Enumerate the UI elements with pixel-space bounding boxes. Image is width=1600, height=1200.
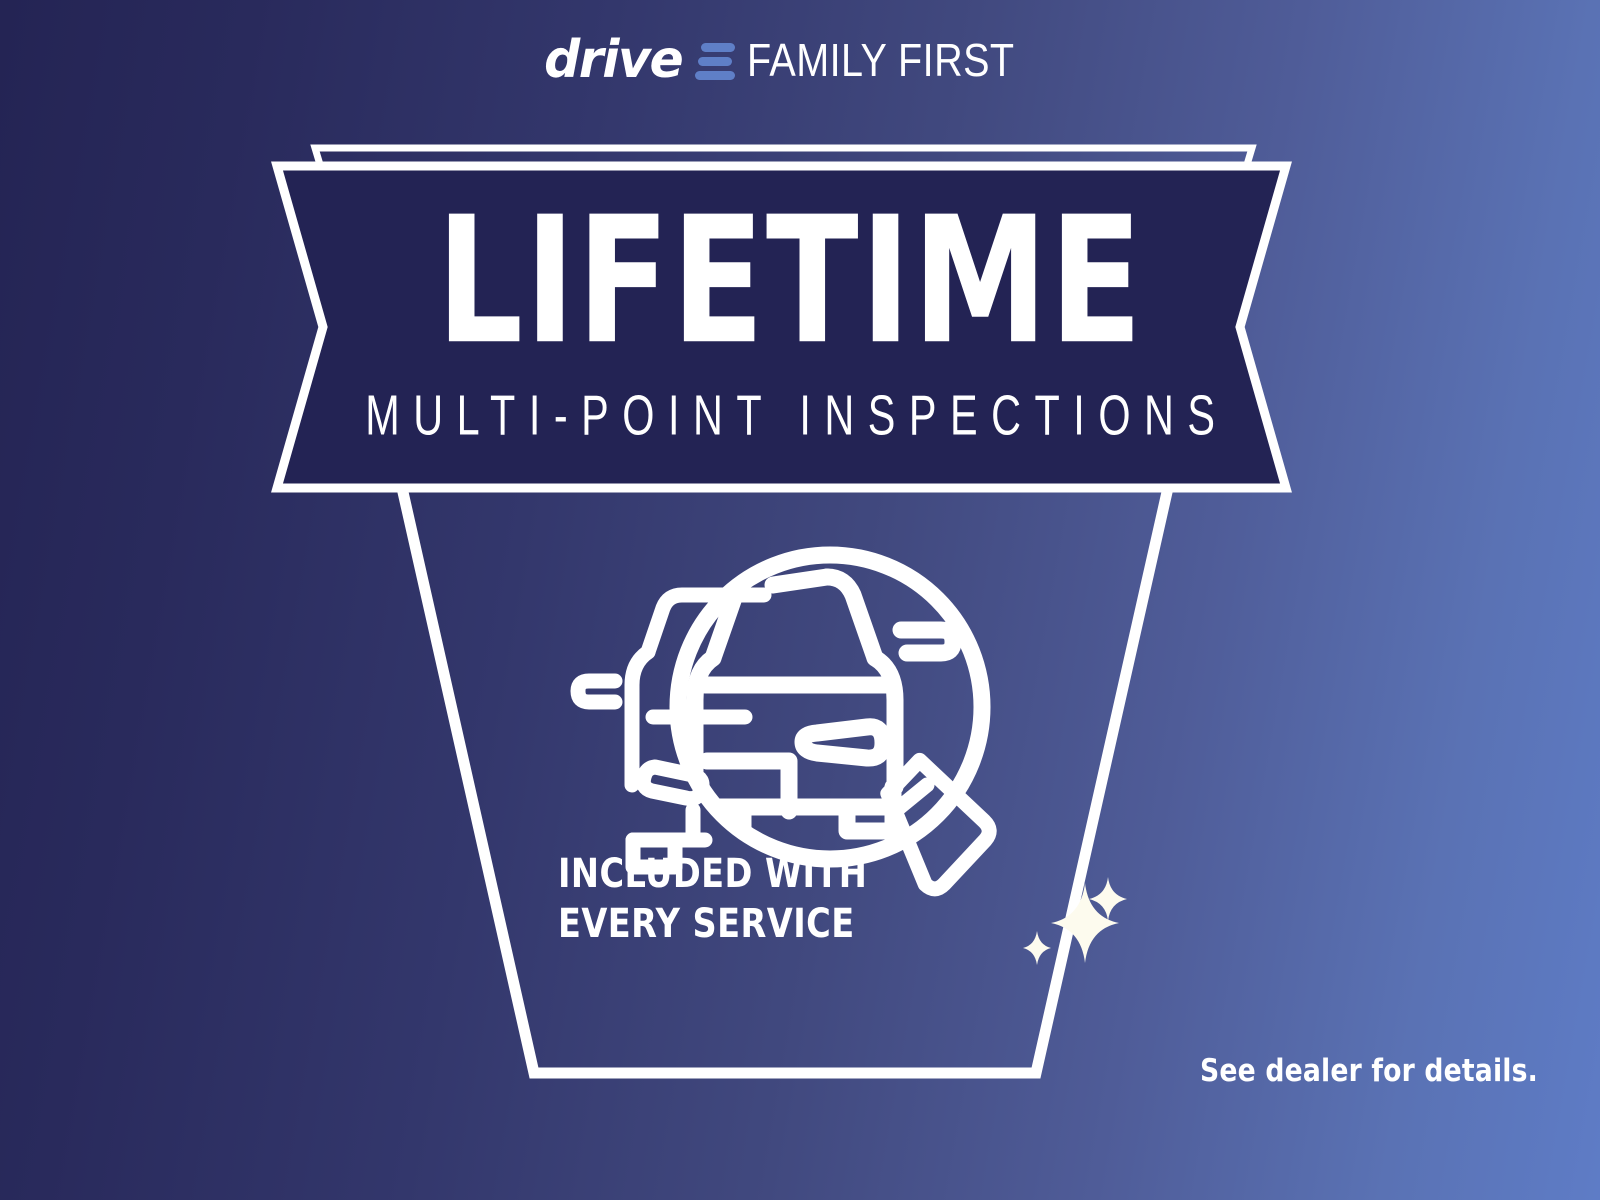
sparkle-stars-icon [1015, 855, 1140, 975]
headline-lifetime: LIFETIME [436, 194, 1143, 369]
ribbon-text-block: LIFETIME MULTI-POINT INSPECTIONS [290, 166, 1290, 482]
bar-bottom [695, 71, 735, 80]
caption-line-2: EVERY SERVICE [558, 899, 867, 949]
sparkle-small [1023, 931, 1051, 965]
brand-tagline: FAMILY FIRST [747, 37, 1014, 83]
bar-middle [698, 57, 732, 66]
brand-header: drive FAMILY FIRST [0, 34, 1600, 86]
bar-top [701, 43, 735, 52]
disclaimer-text: See dealer for details. [1200, 1052, 1538, 1090]
promo-graphic: drive FAMILY FIRST LIFETIME MULTI-POINT … [0, 0, 1600, 1200]
caption-line-1: INCLUDED WITH [558, 849, 867, 899]
three-bars-icon [695, 43, 735, 80]
caption-included-with-every-service: INCLUDED WITH EVERY SERVICE [558, 849, 867, 949]
subheadline-multipoint-inspections: MULTI-POINT INSPECTIONS [352, 387, 1229, 443]
brand-wordmark: drive [544, 34, 682, 86]
